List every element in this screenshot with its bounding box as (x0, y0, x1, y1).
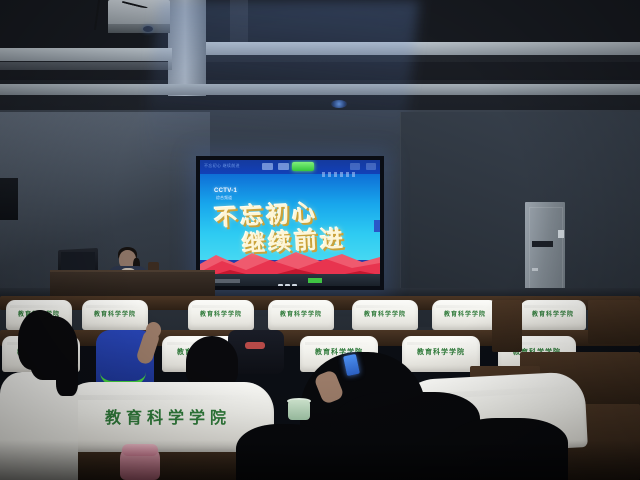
chair-cover[interactable]: 教育科学学院 (268, 300, 334, 330)
screen-side-marker (374, 220, 380, 232)
ceiling-strip-left (0, 48, 172, 61)
projector-lens-icon (143, 26, 153, 32)
chair-cover-text: 教育科学学院 (432, 309, 498, 318)
chair-cover-text: 教育科学学院 (188, 309, 254, 318)
aisle-rail-right (588, 300, 640, 344)
attendee-silhouette-right (448, 418, 568, 480)
backpack-accent (245, 342, 265, 349)
taskbar-tray-icons[interactable] (278, 277, 306, 284)
laptop-screen (61, 252, 95, 270)
door-sign (532, 241, 553, 247)
chair-cover-text: 教育科学学院 (402, 347, 480, 357)
attendee-head-center (186, 336, 238, 388)
wall-speaker (0, 178, 18, 220)
wall-corner-seam (400, 112, 401, 312)
taskbar-item[interactable] (214, 279, 240, 283)
projection-screen[interactable]: 不忘初心 继续前进 CCTV-1 综合频道 不忘初心 继续前进 (200, 160, 380, 286)
chair-cover-text: 教育科学学院 (82, 309, 148, 318)
logo-primary-text: CCTV-1 (214, 188, 237, 194)
green-cup[interactable] (288, 400, 310, 420)
lecture-hall-photo: 不忘初心 继续前进 CCTV-1 综合频道 不忘初心 继续前进 (0, 0, 640, 480)
chair-cover-text: 教育科学学院 (520, 309, 586, 318)
desktop-taskbar[interactable] (200, 274, 380, 286)
player-button-minimize[interactable] (350, 163, 360, 170)
player-window-title: 不忘初心 继续前进 (204, 163, 240, 169)
chair-cover[interactable]: 教育科学学院 (188, 300, 254, 330)
video-player-titlebar: 不忘初心 继续前进 (200, 160, 380, 174)
ceiling-beam-soft (0, 62, 172, 70)
taskbar-active-indicator (308, 278, 322, 283)
seat-armrest-right (492, 300, 522, 352)
projector-light-beam (141, 0, 419, 175)
player-button-pause[interactable] (278, 163, 289, 170)
chair-cover[interactable]: 教育科学学院 (352, 300, 418, 330)
chair-cover-text: 教育科学学院 (352, 309, 418, 318)
door-push-plate (558, 230, 564, 238)
chair-cover-text: 教育科学学院 (62, 404, 274, 428)
slide-headline-line-2: 继续前进 (241, 219, 347, 258)
player-button-close[interactable] (366, 163, 376, 170)
chair-cover[interactable]: 教育科学学院 (82, 300, 148, 330)
door-handle[interactable] (532, 268, 538, 271)
chair-cover[interactable]: 教育科学学院 (520, 300, 586, 330)
attendee-hand (146, 322, 161, 338)
attendee-neck-hair-left (56, 356, 78, 396)
chair-cover[interactable]: 教育科学学院 (402, 336, 480, 372)
podium (50, 272, 215, 298)
water-bottle-cap[interactable] (122, 444, 158, 456)
attendee-silhouette-mid (236, 424, 332, 480)
chair-cover-text: 教育科学学院 (268, 309, 334, 318)
chair-cover[interactable]: 教育科学学院 (432, 300, 498, 330)
player-button-fullscreen[interactable] (292, 162, 314, 171)
player-button-play[interactable] (262, 163, 273, 170)
